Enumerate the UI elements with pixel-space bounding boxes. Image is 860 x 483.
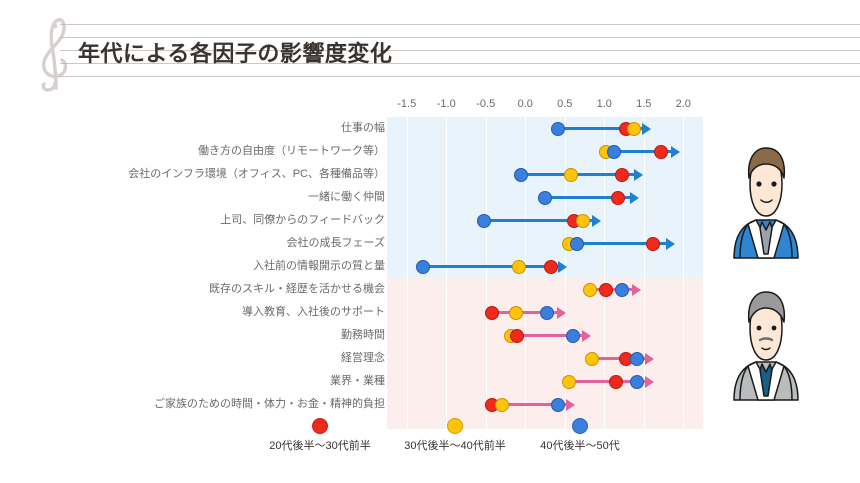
data-point-red[interactable] [544, 260, 558, 274]
staff-line [60, 76, 860, 77]
category-axis: 仕事の幅働き方の自由度（リモートワーク等）会社のインフラ環境（オフィス、PC、各… [60, 117, 385, 416]
data-point-red[interactable] [654, 145, 668, 159]
data-point-red[interactable] [615, 168, 629, 182]
trend-arrow-head [582, 330, 591, 342]
category-label: 上司、同僚からのフィードバック [60, 209, 385, 232]
trend-arrow-head [630, 192, 639, 204]
data-point-blue[interactable] [607, 145, 621, 159]
trend-arrow-head [671, 146, 680, 158]
trend-arrow-head [557, 307, 566, 319]
data-point-red[interactable] [510, 329, 524, 343]
chart-row[interactable] [387, 186, 703, 209]
staff-line [60, 24, 860, 25]
category-label: 仕事の幅 [60, 117, 385, 140]
chart-row[interactable] [387, 232, 703, 255]
legend-label: 40代後半〜50代 [500, 437, 660, 453]
category-label: 働き方の自由度（リモートワーク等） [60, 140, 385, 163]
chart-legend: 20代後半〜30代前半30代後半〜40代前半40代後半〜50代 [0, 418, 860, 468]
data-point-blue[interactable] [566, 329, 580, 343]
data-point-yellow[interactable] [512, 260, 526, 274]
trend-arrow-head [632, 284, 641, 296]
x-axis-tick-label: 0.5 [557, 98, 572, 110]
category-label: 会社のインフラ環境（オフィス、PC、各種備品等） [60, 163, 385, 186]
chart-row[interactable] [387, 163, 703, 186]
data-point-blue[interactable] [477, 214, 491, 228]
data-point-blue[interactable] [630, 352, 644, 366]
young-businessman-illustration [718, 126, 814, 264]
data-point-red[interactable] [485, 306, 499, 320]
data-point-blue[interactable] [615, 283, 629, 297]
trend-arrow-head [645, 376, 654, 388]
data-point-blue[interactable] [416, 260, 430, 274]
x-axis-tick-label: 2.0 [676, 98, 691, 110]
x-axis-tick-label: -0.5 [476, 98, 495, 110]
legend-swatch-red [312, 418, 328, 434]
plot-area: -1.5-1.0-0.50.00.51.01.52.0 [387, 117, 703, 429]
data-point-blue[interactable] [570, 237, 584, 251]
data-point-blue[interactable] [538, 191, 552, 205]
data-point-yellow[interactable] [583, 283, 597, 297]
trend-connector-line [423, 265, 560, 268]
chart-row[interactable] [387, 255, 703, 278]
legend-swatch-blue [572, 418, 588, 434]
slide-header: 年代による各因子の影響度変化 [0, 20, 860, 82]
page-title: 年代による各因子の影響度変化 [78, 36, 392, 68]
data-point-blue[interactable] [551, 398, 565, 412]
chart-row[interactable] [387, 347, 703, 370]
category-label: 勤務時間 [60, 324, 385, 347]
chart-row[interactable] [387, 301, 703, 324]
chart-row[interactable] [387, 324, 703, 347]
category-label: 業界・業種 [60, 370, 385, 393]
x-axis-tick-label: -1.0 [437, 98, 456, 110]
data-point-yellow[interactable] [576, 214, 590, 228]
trend-arrow-head [666, 238, 675, 250]
trend-arrow-head [642, 123, 651, 135]
data-point-blue[interactable] [551, 122, 565, 136]
data-point-red[interactable] [599, 283, 613, 297]
legend-swatch-yellow [447, 418, 463, 434]
chart-row[interactable] [387, 370, 703, 393]
data-point-blue[interactable] [514, 168, 528, 182]
chart-row[interactable] [387, 140, 703, 163]
data-point-yellow[interactable] [495, 398, 509, 412]
category-label: 経営理念 [60, 347, 385, 370]
chart-row[interactable] [387, 209, 703, 232]
data-point-blue[interactable] [630, 375, 644, 389]
data-point-yellow[interactable] [564, 168, 578, 182]
trend-arrow-head [558, 261, 567, 273]
category-label: 入社前の情報開示の質と量 [60, 255, 385, 278]
x-axis-tick-label: 1.0 [597, 98, 612, 110]
data-point-yellow[interactable] [562, 375, 576, 389]
trend-arrow-head [592, 215, 601, 227]
data-point-yellow[interactable] [509, 306, 523, 320]
chart-row[interactable] [387, 393, 703, 416]
chart-row[interactable] [387, 117, 703, 140]
category-label: 一緒に働く仲間 [60, 186, 385, 209]
data-point-red[interactable] [609, 375, 623, 389]
x-axis-tick-label: -1.5 [397, 98, 416, 110]
x-axis-tick-label: 1.5 [636, 98, 651, 110]
category-label: 会社の成長フェーズ [60, 232, 385, 255]
data-point-red[interactable] [646, 237, 660, 251]
trend-arrow-head [645, 353, 654, 365]
x-axis-tick-label: 0.0 [518, 98, 533, 110]
category-label: 既存のスキル・経歴を活かせる機会 [60, 278, 385, 301]
category-label: ご家族のための時間・体力・お金・精神的負担 [60, 393, 385, 416]
data-point-blue[interactable] [540, 306, 554, 320]
trend-arrow-head [566, 399, 575, 411]
trend-arrow-head [634, 169, 643, 181]
slide-canvas: 年代による各因子の影響度変化 仕事の幅働き方の自由度（リモートワーク等）会社のイ… [0, 0, 860, 483]
treble-clef-icon [30, 14, 82, 92]
chart-row[interactable] [387, 278, 703, 301]
data-point-red[interactable] [611, 191, 625, 205]
data-point-yellow[interactable] [585, 352, 599, 366]
legend-item-blue[interactable]: 40代後半〜50代 [500, 418, 660, 453]
category-label: 導入教育、入社後のサポート [60, 301, 385, 324]
data-point-yellow[interactable] [627, 122, 641, 136]
senior-businessman-illustration [718, 272, 814, 406]
